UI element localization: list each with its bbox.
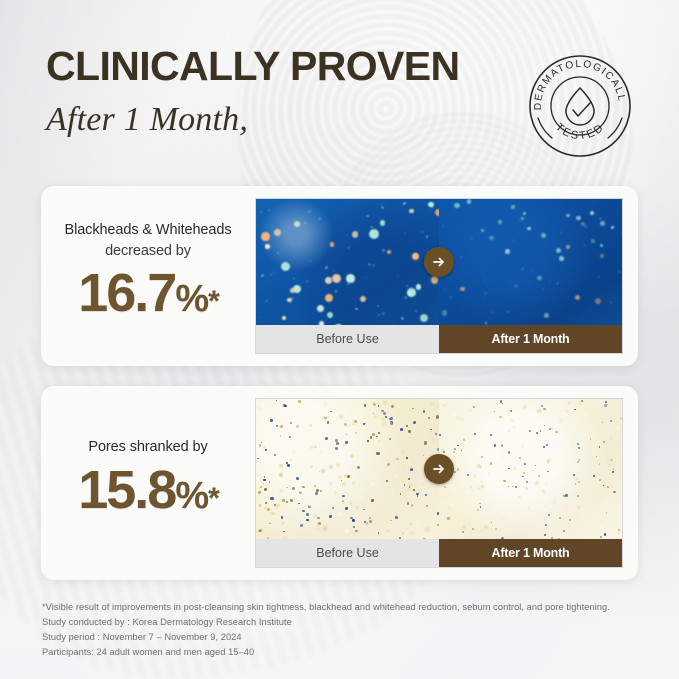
caption-before: Before Use: [256, 325, 439, 353]
stat-label-line2: decreased by: [65, 241, 232, 262]
arrow-right-icon: [424, 454, 454, 484]
image-before: [256, 199, 439, 325]
stat-percent-sign: %: [175, 475, 208, 517]
dermatologically-tested-badge: DERMATOLOGICALLY TESTED: [522, 48, 638, 164]
footnote-line-2: Study conducted by : Korea Dermatology R…: [42, 615, 610, 630]
stat-label: Blackheads & Whiteheads decreased by: [65, 220, 232, 262]
page-subtitle: After 1 Month,: [46, 101, 460, 139]
header-block: CLINICALLY PROVEN After 1 Month,: [46, 46, 460, 139]
caption-before: Before Use: [256, 539, 439, 567]
before-after-pair: Before Use After 1 Month: [255, 198, 623, 354]
image-after: [439, 199, 622, 325]
stat-value: 16.7%*: [78, 266, 218, 320]
result-card-pores: Pores shranked by 15.8%* Before Use Afte…: [41, 386, 638, 580]
stat-asterisk: *: [208, 285, 218, 318]
caption-after: After 1 Month: [439, 325, 622, 353]
stat-label-line1: Blackheads & Whiteheads: [65, 220, 232, 241]
image-after: [439, 399, 622, 539]
footnote-block: *Visible result of improvements in post-…: [42, 600, 610, 660]
stat-label-line1: Pores shranked by: [88, 437, 207, 458]
stat-asterisk: *: [208, 482, 218, 515]
footnote-line-3: Study period : November 7 – November 9, …: [42, 630, 610, 645]
image-before: [256, 399, 439, 539]
water-drop-check-icon: [566, 88, 594, 125]
stat-number: 16.7: [78, 263, 175, 323]
stat-number: 15.8: [78, 460, 175, 520]
footnote-line-1: *Visible result of improvements in post-…: [42, 600, 610, 615]
stat-block: Blackheads & Whiteheads decreased by 16.…: [41, 186, 255, 366]
result-card-blackheads: Blackheads & Whiteheads decreased by 16.…: [41, 186, 638, 366]
stat-percent-sign: %: [175, 278, 208, 320]
stat-block: Pores shranked by 15.8%*: [41, 386, 255, 580]
page-title: CLINICALLY PROVEN: [46, 46, 460, 87]
footnote-line-4: Participants: 24 adult women and men age…: [42, 645, 610, 660]
arrow-right-icon: [424, 247, 454, 277]
caption-after: After 1 Month: [439, 539, 622, 567]
stat-label: Pores shranked by: [88, 437, 207, 458]
caption-row: Before Use After 1 Month: [256, 539, 622, 567]
stat-value: 15.8%*: [78, 463, 218, 517]
before-after-pair: Before Use After 1 Month: [255, 398, 623, 568]
caption-row: Before Use After 1 Month: [256, 325, 622, 353]
